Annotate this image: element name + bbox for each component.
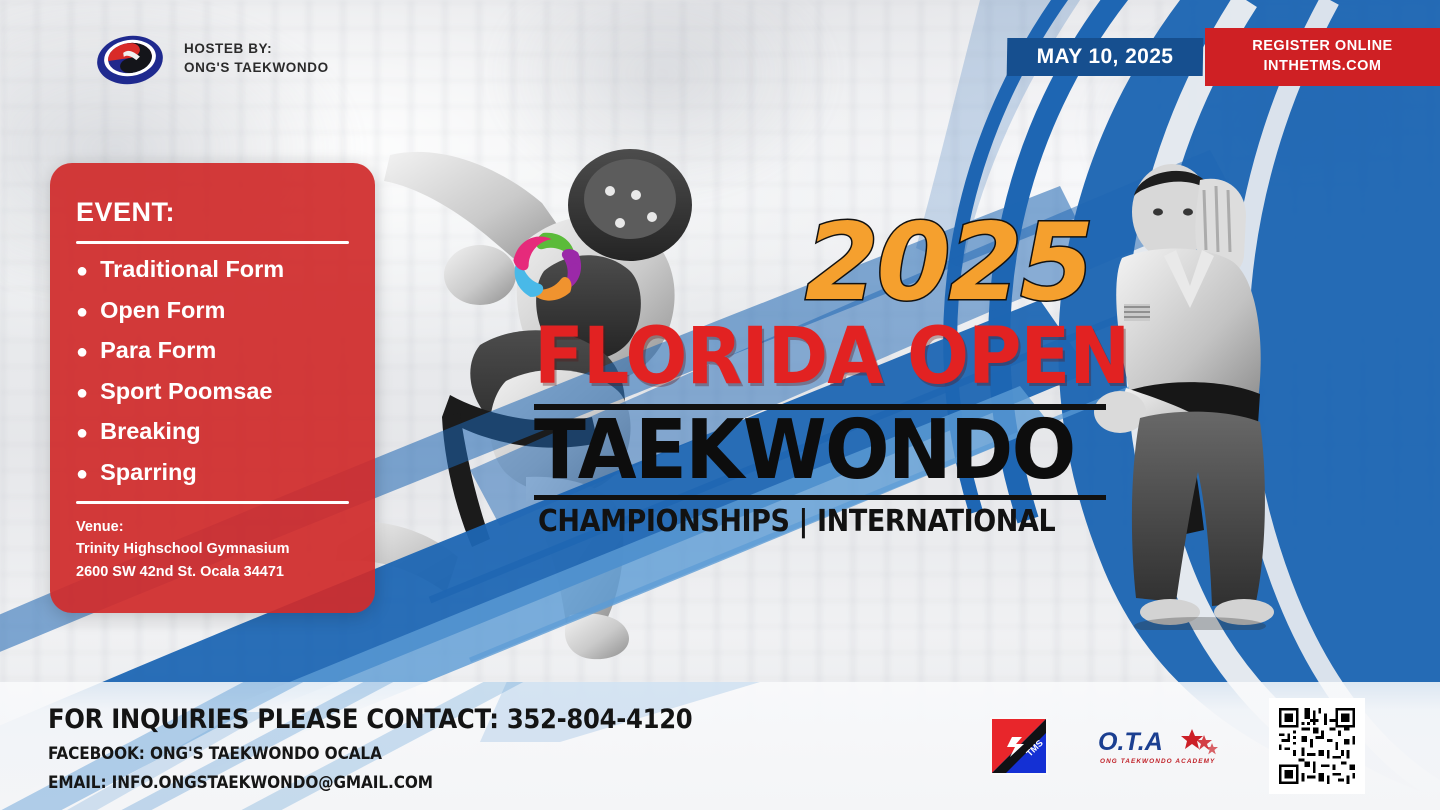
event-item-label: Sparring <box>100 461 197 485</box>
event-item-label: Para Form <box>100 339 216 363</box>
venue-block: Venue: Trinity Highschool Gymnasium 2600… <box>76 516 349 583</box>
svg-text:O.T.A: O.T.A <box>1098 728 1163 756</box>
event-list-card: EVENT: ●Traditional Form ●Open Form ●Par… <box>50 163 375 613</box>
event-items-list: ●Traditional Form ●Open Form ●Para Form … <box>76 258 349 484</box>
footer-bar: FOR INQUIRIES PLEASE CONTACT: 352-804-41… <box>0 682 1440 810</box>
qr-code-icon[interactable] <box>1269 698 1365 794</box>
event-date-badge: MAY 10, 2025 <box>1007 38 1204 76</box>
tms-logo-icon: TMS <box>990 717 1048 775</box>
list-item: ●Para Form <box>76 339 349 363</box>
ongs-taekwondo-roundel-icon <box>94 30 166 86</box>
register-label: REGISTER ONLINE <box>1252 37 1392 57</box>
championships-subtitle: CHAMPIONSHIPS | INTERNATIONAL <box>538 504 1055 539</box>
title-rule-bottom <box>534 495 1106 500</box>
list-item: ●Sport Poomsae <box>76 380 349 404</box>
event-item-label: Open Form <box>100 299 225 323</box>
host-block: HOSTEB BY: ONG'S TAEKWONDO <box>94 30 329 86</box>
list-item: ●Open Form <box>76 299 349 323</box>
venue-address: 2600 SW 42nd St. Ocala 34471 <box>76 561 349 583</box>
host-label: HOSTEB BY: <box>184 39 329 58</box>
event-divider-bottom <box>76 501 349 504</box>
sponsor-logos: TMS O.T.A ONG TAEKWONDO ACADEMY <box>990 682 1440 810</box>
bullet-icon: ● <box>76 423 88 443</box>
taekwondo-heading: TAEKWONDO <box>534 410 1075 492</box>
year-heading: 2025 <box>805 210 1092 316</box>
venue-name: Trinity Highschool Gymnasium <box>76 538 349 560</box>
event-divider-top <box>76 241 349 244</box>
bullet-icon: ● <box>76 261 88 281</box>
list-item: ●Traditional Form <box>76 258 349 282</box>
event-item-label: Breaking <box>100 420 201 444</box>
bullet-icon: ● <box>76 302 88 322</box>
event-item-label: Sport Poomsae <box>100 380 272 404</box>
list-item: ●Sparring <box>76 461 349 485</box>
event-item-label: Traditional Form <box>100 258 284 282</box>
event-card-title: EVENT: <box>76 197 349 228</box>
list-item: ●Breaking <box>76 420 349 444</box>
bullet-icon: ● <box>76 383 88 403</box>
bullet-icon: ● <box>76 342 88 362</box>
register-online-badge[interactable]: REGISTER ONLINE INTHETMS.COM <box>1205 28 1440 86</box>
host-name: ONG'S TAEKWONDO <box>184 58 329 77</box>
taekwondo-pinwheel-emblem-icon <box>502 224 592 310</box>
florida-open-heading: FLORIDA OPEN <box>534 318 1129 396</box>
bullet-icon: ● <box>76 464 88 484</box>
poster-root: HOSTEB BY: ONG'S TAEKWONDO MAY 10, 2025 … <box>0 0 1440 810</box>
register-url: INTHETMS.COM <box>1264 57 1382 77</box>
ota-academy-logo-icon: O.T.A ONG TAEKWONDO ACADEMY <box>1096 723 1221 769</box>
host-text: HOSTEB BY: ONG'S TAEKWONDO <box>184 39 329 77</box>
venue-label: Venue: <box>76 516 349 538</box>
svg-text:ONG TAEKWONDO ACADEMY: ONG TAEKWONDO ACADEMY <box>1100 758 1215 765</box>
